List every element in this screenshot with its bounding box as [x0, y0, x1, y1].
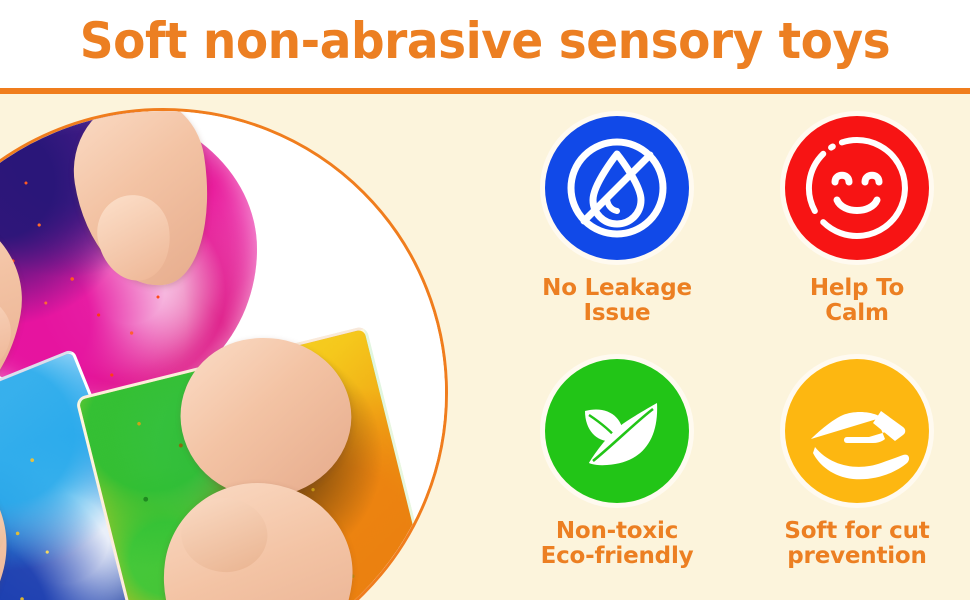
- cut-prevention-badge: [785, 359, 929, 503]
- page-title: Soft non-abrasive sensory toys: [29, 4, 941, 78]
- help-to-calm-badge: [785, 116, 929, 260]
- feature-label-line1: No Leakage: [542, 275, 692, 301]
- feature-label-line1: Soft for cut: [784, 518, 929, 544]
- non-toxic-badge: [545, 359, 689, 503]
- feature-label-line2: prevention: [744, 544, 970, 569]
- feature-label-line2: Eco-friendly: [504, 544, 730, 569]
- feature-label-cut-prevention: Soft for cut prevention: [744, 519, 970, 569]
- product-infographic: Soft non-abrasive sensory toys: [0, 0, 970, 600]
- content-area: No Leakage Issue Help To Calm: [0, 94, 970, 600]
- feature-non-toxic: Non-toxic Eco-friendly: [504, 359, 730, 569]
- feature-label-help-to-calm: Help To Calm: [744, 276, 970, 326]
- feature-label-non-toxic: Non-toxic Eco-friendly: [504, 519, 730, 569]
- feature-grid: No Leakage Issue Help To Calm: [490, 94, 970, 600]
- feature-help-to-calm: Help To Calm: [744, 116, 970, 326]
- photo-collage: [0, 111, 445, 600]
- open-hand-icon: [785, 359, 929, 503]
- feature-label-line2: Calm: [744, 301, 970, 326]
- feature-label-line2: Issue: [504, 301, 730, 326]
- feature-label-line1: Help To: [810, 275, 904, 301]
- header-band: Soft non-abrasive sensory toys: [0, 0, 970, 88]
- feature-label-no-leakage: No Leakage Issue: [504, 276, 730, 326]
- no-leakage-badge: [545, 116, 689, 260]
- product-photo-circle: [0, 108, 448, 600]
- feature-cut-prevention: Soft for cut prevention: [744, 359, 970, 569]
- smiley-face-icon: [785, 116, 929, 260]
- leaf-icon: [545, 359, 689, 503]
- feature-no-leakage: No Leakage Issue: [504, 116, 730, 326]
- feature-label-line1: Non-toxic: [556, 518, 678, 544]
- no-water-drop-icon: [545, 116, 689, 260]
